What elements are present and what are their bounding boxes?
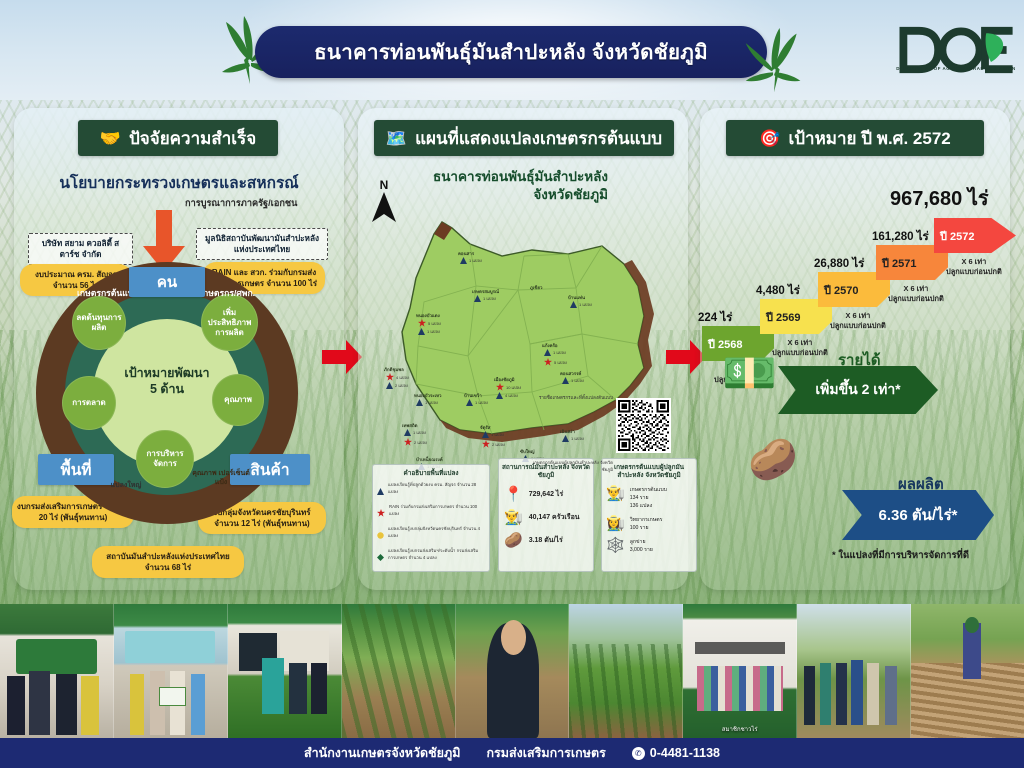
goal-step-area: 26,880 ไร่ [814, 255, 864, 273]
map-district-label: บ้านเขว้า [464, 392, 482, 399]
map-people-title: เกษตรกรต้นแบบผู้ปลูกมันสำปะหลัง จังหวัดช… [602, 459, 696, 483]
goal-step-area: 4,480 ไร่ [756, 282, 800, 300]
wheel-core-title: เป้าหมายพัฒนา [93, 366, 241, 382]
map-legend-box: คำอธิบายพื้นที่แปลง แปลงเรียนรู้ที่ปลูกด… [372, 464, 490, 572]
map-district-label: คอนสาร [458, 250, 474, 257]
yield-chevron: 6.36 ตัน/ไร่* [842, 490, 994, 540]
legend-marker-star-icon [377, 504, 385, 522]
dashed-box-thai-tapioca-foundation: มูลนิธิสถาบันพัฒนามันสำปะหลังแห่งประเทศไ… [196, 228, 328, 260]
map-people-rows: 👨‍🌾เกษตรกรต้นแบบ134 ราย136 แปลง👩‍🌾วิทยาก… [602, 483, 696, 557]
map-stat-value: 40,147 ครัวเรือน [529, 512, 580, 523]
map-marker-triangle: 1 แปลง [474, 295, 496, 302]
map-marker-label: 1 แปลง [571, 377, 584, 384]
policy-statement: นโยบายกระทรวงเกษตรและสหกรณ์ [14, 170, 344, 195]
handshake-icon: 🤝 [100, 130, 121, 147]
map-marker-label: 1 แปลง [483, 295, 496, 302]
map-stat-row: 📍729,642 ไร่ [499, 483, 593, 506]
income-value: เพิ่มขึ้น 2 เท่า* [815, 379, 900, 401]
goal-step-multiplier: X 6 เท่าปลูกแบบก่อนปกติ [772, 338, 828, 359]
section-header-map-label: แผนที่แสดงแปลงเกษตรกรต้นแบบ [415, 125, 662, 152]
map-district-label: เกษตรสมบูรณ์ [472, 288, 499, 295]
map-stat-value: 3.18 ตัน/ไร่ [529, 535, 563, 546]
qr-code-image [618, 400, 669, 451]
goal-step-area: 224 ไร่ [698, 309, 732, 327]
map-subtitle-line2: จังหวัดชัยภูมิ [368, 186, 608, 204]
footer-office: สำนักงานเกษตรจังหวัดชัยภูมิ [304, 743, 460, 763]
map-district-label: เมืองชัยภูมิ [494, 376, 515, 383]
map-district-label: ภูเขียว [530, 284, 542, 291]
map-people-row: 👩‍🌾วิทยากรเกษตร100 ราย [602, 513, 696, 535]
farmer-icon: 👨‍🌾 [504, 510, 523, 525]
small-label-plang-yai: แปลงใหญ่ [96, 482, 156, 491]
map-district-label: หนองบัวแดง [416, 312, 440, 319]
map-marker-triangle: 1 แปลง [460, 257, 482, 264]
map-district-label: ภักดีชุมพล [384, 366, 404, 373]
header: ธนาคารท่อนพันธุ์มันสำปะหลัง จังหวัดชัยภู… [0, 0, 1024, 105]
map-people-text: เกษตรกรต้นแบบ134 ราย136 แปลง [630, 486, 667, 510]
map-stats-box: สถานการณ์มันสำปะหลัง จังหวัดชัยภูมิ 📍729… [498, 458, 594, 572]
goal-footnote: * ในแปลงที่มีการบริหารจัดการที่ดี [832, 548, 969, 563]
map-marker-label: 4 แปลง [396, 374, 409, 381]
map-marker-label: 1 แปลง [413, 429, 426, 436]
photo-field-visit [228, 604, 342, 738]
map-marker-star: 2 แปลง [482, 440, 505, 448]
legend-item-text: แปลงเรียนรู้งบกลุ่มจังหวัดนครชัยบุรินทร์… [388, 526, 485, 538]
bubble-increase-efficiency: เพิ่มประสิทธิภาพการผลิต [201, 294, 258, 351]
male-farmer-icon: 👨‍🌾 [606, 486, 625, 501]
map-marker-label: 1 แปลง [553, 349, 566, 356]
blue-button-area: พื้นที่ [38, 454, 114, 485]
legend-marker-diamond-icon [377, 548, 384, 566]
map-people-row: 🕸️ลูกข่าย3,000 ราย [602, 535, 696, 557]
legend-marker-circle-icon [377, 526, 384, 544]
section-header-success-label: ปัจจัยความสำเร็จ [129, 125, 256, 152]
map-stat-row: 👨‍🌾40,147 ครัวเรือน [499, 506, 593, 529]
goal-step-area: 161,280 ไร่ [872, 228, 929, 246]
blue-button-khon: คน [129, 267, 205, 297]
section-header-map: 🗺️ แผนที่แสดงแปลงเกษตรกรต้นแบบ [374, 120, 674, 156]
map-district-label: หนองบัวระเหว [414, 392, 442, 399]
map-marker-label: 4 แปลง [505, 392, 518, 399]
goal-step-year: ปี 2570 [824, 281, 859, 299]
cassava-root-icon: 🥔 [504, 533, 523, 548]
map-legend-rows: แปลงเรียนรู้ที่ปลูกด้วยงบ ครม. สัญจร จำน… [373, 480, 489, 568]
legend-item-text: แปลงเรียนรู้งบกรมส่งเสริมฯ/ระดับน้ำ กรมส… [388, 548, 485, 560]
map-district-label: บำเหน็จณรงค์ [416, 456, 443, 463]
goal-step-multiplier: X 6 เท่าปลูกแบบก่อนปกติ [888, 284, 944, 305]
map-marker-triangle: 1 แปลง [544, 349, 566, 356]
map-subtitle: ธนาคารท่อนพันธุ์มันสำปะหลัง จังหวัดชัยภู… [368, 168, 608, 204]
photo-harvest-stack [911, 604, 1024, 738]
footer-bar: สำนักงานเกษตรจังหวัดชัยภูมิ กรมส่งเสริมก… [0, 738, 1024, 768]
photo-cassava-field [569, 604, 683, 738]
map-legend-item: แปลงเรียนรู้งบกรมส่งเสริมฯ/ระดับน้ำ กรมส… [373, 546, 489, 568]
map-marker-label: 10 แปลง [506, 384, 521, 391]
map-marker-label: 5 แปลง [554, 359, 567, 366]
map-marker-star: 5 แปลง [544, 358, 567, 366]
goal-step-year: ปี 2569 [766, 308, 801, 326]
photo-caption-sms: สมาชิกชาวไร่ [683, 724, 796, 734]
section-header-success: 🤝 ปัจจัยความสำเร็จ [78, 120, 278, 156]
photo-model-sms-20r: สมาชิกชาวไร่ [683, 604, 797, 738]
map-marker-triangle: 1 แปลง [562, 435, 584, 442]
cannabis-leaf-icon-right [742, 28, 806, 94]
doae-logo-subtext: DEPARTMENT OF AGRICULTURAL EXTENSION [895, 66, 1017, 71]
map-area-icon: 📍 [504, 487, 523, 502]
qr-code[interactable] [616, 398, 671, 453]
map-stat-value: 729,642 ไร่ [529, 489, 564, 500]
map-marker-label: 1 แปลง [469, 257, 482, 264]
red-arrow-icon-1 [322, 340, 362, 374]
photo-ttdi-award [0, 604, 114, 738]
goal-step-multiplier: X 6 เท่าปลูกแบบก่อนปกติ [830, 311, 886, 332]
section-header-goal: 🎯 เป้าหมาย ปี พ.ศ. 2572 [726, 120, 984, 156]
map-district-label: เนินสง่า [560, 428, 575, 435]
footer-phone-number: 0-4481-1138 [650, 746, 720, 760]
map-stats-rows: 📍729,642 ไร่👨‍🌾40,147 ครัวเรือน🥔3.18 ตัน… [499, 483, 593, 552]
map-marker-triangle: 1 แปลง [418, 328, 440, 335]
network-icon: 🕸️ [606, 538, 625, 553]
map-district-label: จัตุรัส [480, 424, 490, 431]
bubble-quality: คุณภาพ [212, 374, 264, 426]
map-marker-label: 5 แปลง [428, 320, 441, 327]
map-marker-label: 1 แปลง [427, 328, 440, 335]
integration-label: การบูรณาการภาครัฐ/เอกชน [185, 196, 335, 211]
qr-caption-bottom: เกษตรกรต้นแบบผู้ปลูกมันสำปะหลัง จังหวัดช… [525, 460, 613, 473]
map-marker-triangle: 1 แปลง [562, 377, 584, 384]
map-marker-triangle: 1 แปลง [466, 399, 488, 406]
goal-step-year: ปี 2571 [882, 254, 917, 272]
map-marker-label: 1 แปลง [425, 399, 438, 406]
phone-icon: ✆ [632, 747, 645, 760]
goal-step-multiplier: X 6 เท่าปลูกแบบก่อนปกติ [946, 257, 1002, 278]
map-district-label: คอนสวรรค์ [560, 370, 581, 377]
map-legend-item: RAIN ร่วมกับกรมส่งเสริมการเกษตร จำนวน 10… [373, 502, 489, 524]
goal-staircase-chart: ปี 2568224 ไร่X 20ปลูกแบบท่อนสั้นปี 2569… [700, 160, 1010, 360]
map-district-label: เทพสถิต [402, 422, 417, 429]
map-subtitle-line1: ธนาคารท่อนพันธุ์มันสำปะหลัง [368, 168, 608, 186]
map-marker-label: 2 แปลง [492, 441, 505, 448]
map-marker-label: 2 แปลง [414, 439, 427, 446]
map-legend-item: แปลงเรียนรู้ที่ปลูกด้วยงบ ครม. สัญจร จำน… [373, 480, 489, 502]
footer-phone: ✆ 0-4481-1138 [632, 746, 720, 760]
map-district-label: บ้านแท่น [568, 294, 585, 301]
map-marker-label: 1 แปลง [475, 399, 488, 406]
photo-officer-portrait [456, 604, 570, 738]
page-title-plate: ธนาคารท่อนพันธุ์มันสำปะหลัง จังหวัดชัยภู… [255, 26, 767, 78]
bubble-reduce-cost: ลดต้นทุนการผลิต [72, 296, 126, 350]
map-marker-triangle: 1 แปลง [570, 301, 592, 308]
map-legend-title: คำอธิบายพื้นที่แปลง [373, 465, 489, 480]
target-icon: 🎯 [759, 130, 780, 147]
section-header-goal-label: เป้าหมาย ปี พ.ศ. 2572 [788, 125, 950, 152]
map-district-label: แก้งคร้อ [542, 342, 558, 349]
map-marker-triangle: 4 แปลง [496, 392, 518, 399]
map-pin-icon: 🗺️ [386, 130, 407, 147]
map-marker-triangle: 2 แปลง [386, 382, 408, 389]
small-label-quality-premium: คุณภาพ เปอร์เซ็นต์แป้ง [188, 470, 254, 488]
map-people-text: วิทยากรเกษตร100 ราย [630, 516, 663, 532]
map-marker-star: 10 แปลง [496, 383, 521, 391]
map-legend-item: แปลงเรียนรู้งบกลุ่มจังหวัดนครชัยบุรินทร์… [373, 524, 489, 546]
map-marker-triangle: 1 แปลง [482, 431, 504, 438]
map-district-label: ซับใหญ่ [520, 448, 535, 455]
income-chevron: เพิ่มขึ้น 2 เท่า* [778, 366, 938, 414]
legend-item-text: แปลงเรียนรู้ที่ปลูกด้วยงบ ครม. สัญจร จำน… [388, 482, 485, 494]
footer-department: กรมส่งเสริมการเกษตร [486, 743, 605, 763]
legend-item-text: RAIN ร่วมกับกรมส่งเสริมการเกษตร จำนวน 10… [389, 504, 485, 516]
map-people-text: ลูกข่าย3,000 ราย [630, 538, 653, 554]
map-marker-label: 1 แปลง [491, 431, 504, 438]
map-marker-star: 5 แปลง [418, 319, 441, 327]
map-marker-label: 1 แปลง [571, 435, 584, 442]
qr-caption-top: รายชื่อเกษตรกรและที่ตั้งแปลงต้นแบบ [533, 395, 613, 402]
map-marker-star: 4 แปลง [386, 373, 409, 381]
map-marker-label: 1 แปลง [579, 301, 592, 308]
map-marker-label: 2 แปลง [395, 382, 408, 389]
map-people-row: 👨‍🌾เกษตรกรต้นแบบ134 ราย136 แปลง [602, 483, 696, 513]
map-marker-triangle: 1 แปลง [416, 399, 438, 406]
photo-ceremony-banner [114, 604, 228, 738]
photo-strip: สมาชิกชาวไร่ [0, 604, 1024, 738]
photo-group-field [797, 604, 911, 738]
cassava-root-icon-large: 🥔 [748, 440, 798, 480]
compass-label: N [372, 178, 396, 192]
map-people-box: เกษตรกรต้นแบบผู้ปลูกมันสำปะหลัง จังหวัดช… [601, 458, 697, 572]
female-farmer-icon: 👩‍🌾 [606, 516, 625, 531]
map-marker-star: 2 แปลง [404, 438, 427, 446]
bubble-marketing: การตลาด [62, 376, 116, 430]
page-title: ธนาคารท่อนพันธุ์มันสำปะหลัง จังหวัดชัยภู… [314, 36, 708, 69]
photo-cassava-rows [342, 604, 456, 738]
bubble-management: การบริหารจัดการ [136, 430, 194, 488]
legend-marker-triangle-icon [377, 482, 384, 500]
money-icon: 💵 [722, 352, 777, 396]
goal-step-ปี-2572: ปี 2572 [934, 218, 1016, 253]
map-marker-triangle: 1 แปลง [404, 429, 426, 436]
goal-step-year: ปี 2572 [940, 227, 975, 245]
yellow-box-tapioca-institute: สถาบันมันสำปะหลังแห่งประเทศไทย จำนวน 68 … [92, 546, 244, 578]
yield-value: 6.36 ตัน/ไร่* [879, 503, 958, 527]
dashed-box-siam-quality-starch: บริษัท สยาม ควอลิตี้ สตาร์ช จำกัด [28, 233, 133, 265]
map-stat-row: 🥔3.18 ตัน/ไร่ [499, 529, 593, 552]
